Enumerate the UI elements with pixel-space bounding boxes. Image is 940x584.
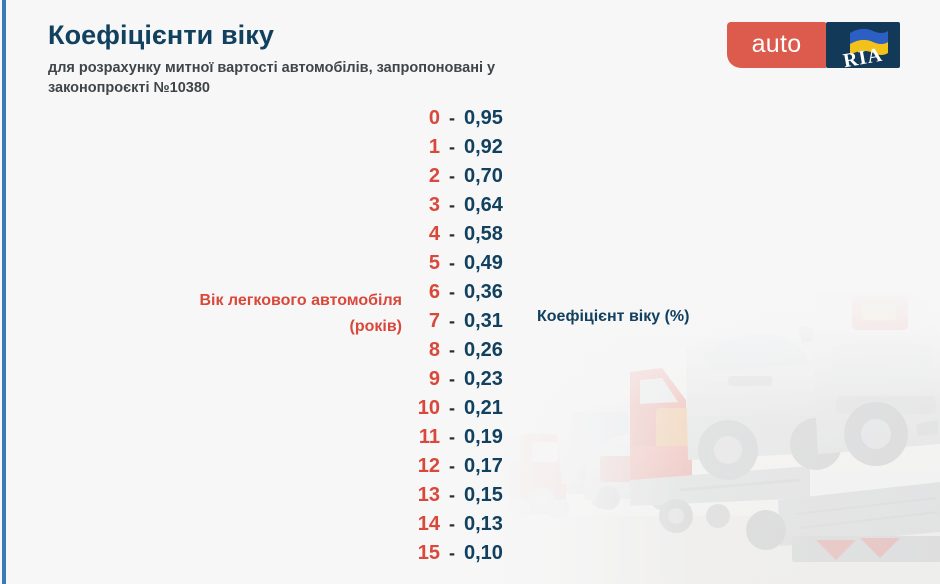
- coefficient-age: 0: [350, 104, 440, 133]
- coefficient-value: 0,23: [464, 365, 503, 394]
- coefficient-age: 4: [350, 220, 440, 249]
- coefficient-value: 0,70: [464, 162, 503, 191]
- page-title: Коефіцієнти віку: [48, 20, 608, 52]
- coefficient-age: 7: [350, 307, 440, 336]
- coefficient-separator: -: [440, 423, 464, 452]
- coefficient-row: 11-0,19: [350, 423, 580, 452]
- coefficient-separator: -: [440, 510, 464, 539]
- coefficient-value: 0,49: [464, 249, 503, 278]
- coefficient-row: 10-0,21: [350, 394, 580, 423]
- logo-auto-block: auto: [727, 22, 826, 68]
- coefficient-row: 5-0,49: [350, 249, 580, 278]
- coefficient-value: 0,58: [464, 220, 503, 249]
- coefficient-row: 8-0,26: [350, 336, 580, 365]
- coefficient-age: 8: [350, 336, 440, 365]
- coefficient-value: 0,13: [464, 510, 503, 539]
- coefficient-value: 0,19: [464, 423, 503, 452]
- coefficient-age: 6: [350, 278, 440, 307]
- coefficient-row: 0-0,95: [350, 104, 580, 133]
- coefficient-row: 12-0,17: [350, 452, 580, 481]
- coefficient-row: 14-0,13: [350, 510, 580, 539]
- coefficient-age: 9: [350, 365, 440, 394]
- coefficient-row: 9-0,23: [350, 365, 580, 394]
- coefficient-separator: -: [440, 394, 464, 423]
- header: Коефіцієнти віку для розрахунку митної в…: [48, 20, 608, 99]
- coefficient-value: 0,92: [464, 133, 503, 162]
- coefficient-age: 15: [350, 539, 440, 568]
- coefficient-age: 12: [350, 452, 440, 481]
- coefficient-age: 2: [350, 162, 440, 191]
- coefficient-separator: -: [440, 249, 464, 278]
- coefficient-row: 1-0,92: [350, 133, 580, 162]
- coefficient-row: 4-0,58: [350, 220, 580, 249]
- coefficient-age: 3: [350, 191, 440, 220]
- coefficient-age: 14: [350, 510, 440, 539]
- logo-auto-text: auto: [752, 32, 802, 59]
- coefficient-row: 13-0,15: [350, 481, 580, 510]
- coefficient-value: 0,10: [464, 539, 503, 568]
- coefficient-separator: -: [440, 539, 464, 568]
- coefficient-row: 15-0,10: [350, 539, 580, 568]
- coefficient-value: 0,17: [464, 452, 503, 481]
- coefficient-value: 0,21: [464, 394, 503, 423]
- coefficient-list: 0-0,951-0,922-0,703-0,644-0,585-0,496-0,…: [350, 104, 580, 568]
- infographic-canvas: Коефіцієнти віку для розрахунку митної в…: [0, 0, 940, 584]
- coefficient-separator: -: [440, 191, 464, 220]
- coefficient-value: 0,95: [464, 104, 503, 133]
- coefficient-value: 0,64: [464, 191, 503, 220]
- coefficient-separator: -: [440, 481, 464, 510]
- coefficient-value: 0,31: [464, 307, 503, 336]
- page-subtitle: для розрахунку митної вартості автомобіл…: [48, 58, 553, 99]
- coefficient-value: 0,15: [464, 481, 503, 510]
- coefficient-age: 10: [350, 394, 440, 423]
- coefficient-age: 11: [350, 423, 440, 452]
- coefficient-separator: -: [440, 336, 464, 365]
- left-accent-stripe: [2, 0, 6, 584]
- coefficient-age: 1: [350, 133, 440, 162]
- coefficient-row: 3-0,64: [350, 191, 580, 220]
- coefficient-value: 0,36: [464, 278, 503, 307]
- svg-text:RIA: RIA: [842, 44, 885, 68]
- logo-ria-block: RIA: [826, 22, 900, 68]
- coefficient-separator: -: [440, 104, 464, 133]
- coefficient-separator: -: [440, 365, 464, 394]
- coefficient-age: 13: [350, 481, 440, 510]
- coefficient-separator: -: [440, 162, 464, 191]
- coefficient-separator: -: [440, 307, 464, 336]
- coefficient-value: 0,26: [464, 336, 503, 365]
- coefficient-row: 7-0,31: [350, 307, 580, 336]
- coefficient-row: 6-0,36: [350, 278, 580, 307]
- coefficient-separator: -: [440, 133, 464, 162]
- coefficient-separator: -: [440, 452, 464, 481]
- auto-ria-logo[interactable]: auto RIA: [727, 22, 900, 68]
- coefficient-separator: -: [440, 278, 464, 307]
- coefficient-separator: -: [440, 220, 464, 249]
- coefficient-age: 5: [350, 249, 440, 278]
- coefficient-row: 2-0,70: [350, 162, 580, 191]
